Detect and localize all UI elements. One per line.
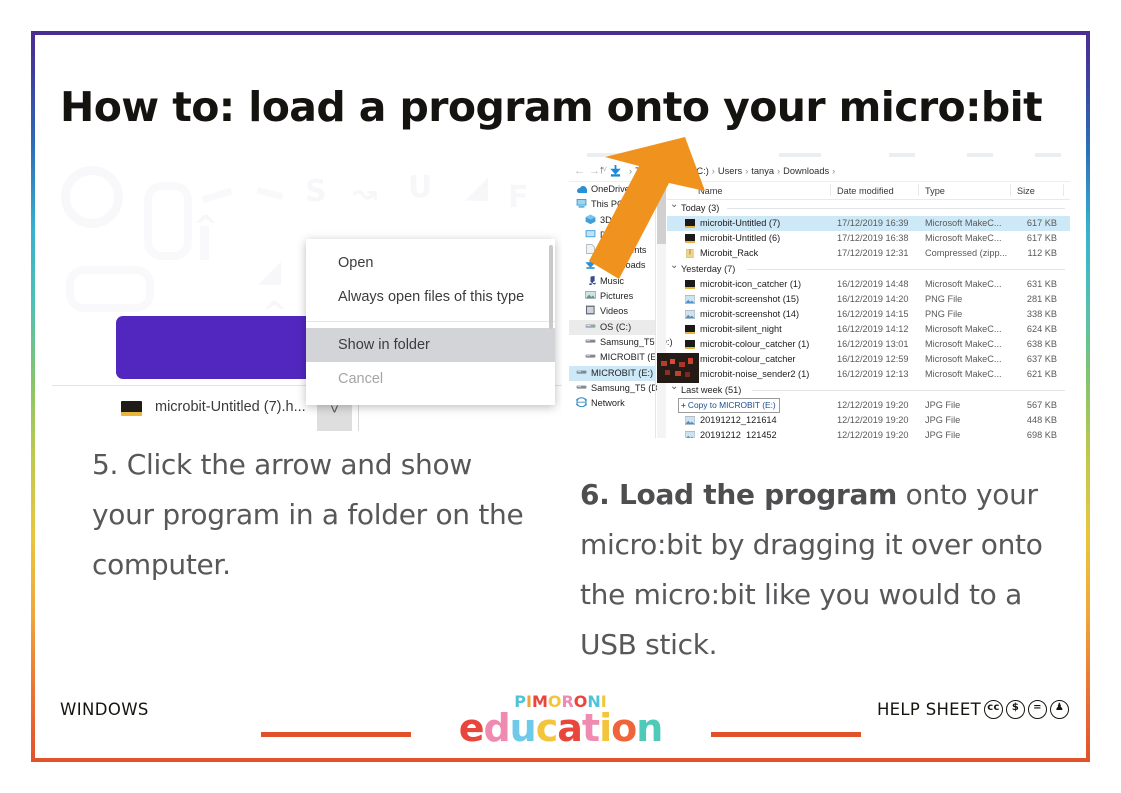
- breadcrumb-separator: ›: [709, 166, 718, 176]
- logo-letter: u: [510, 706, 536, 750]
- file-size: 637 KB: [1017, 352, 1057, 367]
- page-content: How to: load a program onto your micro:b…: [35, 35, 1086, 758]
- column-header-name[interactable]: Name: [698, 186, 723, 196]
- logo-rule-right: [711, 732, 861, 737]
- network-icon: [576, 397, 587, 407]
- nav-scrollbar-thumb[interactable]: [657, 184, 666, 244]
- file-date: 16/12/2019 13:01: [837, 337, 909, 352]
- table-row[interactable]: 20191212_12161412/12/2019 19:20JPG File4…: [667, 413, 1070, 428]
- menu-item-always-open[interactable]: Always open files of this type: [306, 280, 555, 314]
- breadcrumb-part[interactable]: tanya: [751, 166, 774, 176]
- column-headers: Name Date modified Type Size: [667, 182, 1070, 200]
- sidebar-item-microbit-e[interactable]: MICROBIT (E:): [569, 366, 655, 381]
- file-explorer-screenshot: ← → ˅ ↑ ›This PC›OS (C:)›Users›tanya›Dow…: [569, 148, 1070, 438]
- sidebar-item-label: Pictures: [600, 291, 633, 301]
- sidebar-item-this-pc[interactable]: This PC: [569, 197, 655, 212]
- thumb-pixel: [665, 370, 670, 375]
- shelf-file-name[interactable]: microbit-Untitled (7).h...: [155, 399, 306, 415]
- file-name: 20191212_121614: [700, 413, 777, 428]
- file-type: Microsoft MakeC...: [925, 277, 1002, 292]
- sidebar-item-samsung-t5-d[interactable]: Samsung_T5 (D:): [569, 335, 655, 350]
- music-icon: [585, 275, 596, 285]
- file-type: Compressed (zipp...: [925, 246, 1007, 261]
- file-type: JPG File: [925, 413, 960, 428]
- breadcrumb-separator: ›: [668, 166, 677, 176]
- videos-icon: [585, 305, 596, 315]
- sidebar-item-label: MICROBIT (E:): [600, 352, 662, 362]
- table-row[interactable]: microbit-Untitled (6)17/12/2019 16:38Mic…: [667, 231, 1070, 246]
- sidebar-item-label: Downloads: [600, 260, 645, 270]
- breadcrumb-part[interactable]: This PC: [635, 166, 668, 176]
- page-border-frame: How to: load a program onto your micro:b…: [31, 31, 1090, 762]
- sidebar-item-label: MICROBIT (E:): [591, 368, 653, 378]
- downloads-icon: [585, 259, 596, 269]
- file-date: 16/12/2019 14:15: [837, 307, 909, 322]
- cc-nc-icon: $: [1006, 700, 1025, 719]
- sidebar-item-desktop[interactable]: Desktop: [569, 228, 655, 243]
- cc-nd-icon: =: [1028, 700, 1047, 719]
- table-row[interactable]: microbit-silent_night16/12/2019 14:12Mic…: [667, 322, 1070, 337]
- sidebar-item-downloads[interactable]: Downloads: [569, 258, 655, 273]
- logo-letter: e: [459, 706, 484, 750]
- step-6-text: 6. Load the program onto your micro:bit …: [580, 470, 1050, 670]
- file-name: microbit-noise_sender2 (1): [700, 367, 809, 382]
- decorative-shape: [66, 266, 154, 312]
- file-group-rule: [752, 390, 1065, 391]
- plus-icon: +: [681, 400, 686, 410]
- documents-icon: [585, 244, 596, 254]
- footer: WINDOWS PIMORONI education HELP SHEET cc…: [35, 694, 1086, 752]
- file-type: JPG File: [925, 398, 960, 413]
- downloads-folder-icon: [610, 165, 621, 177]
- breadcrumb-separator: ›: [774, 166, 783, 176]
- table-row[interactable]: microbit-icon_catcher (1)16/12/2019 14:4…: [667, 277, 1070, 292]
- thumb-pixel: [688, 358, 693, 364]
- usb-drive-icon: [576, 382, 587, 392]
- this-pc-icon: [576, 198, 587, 208]
- file-name: microbit-colour_catcher: [700, 352, 795, 367]
- decorative-shape: ◢: [465, 170, 488, 205]
- step-6-bold: 6. Load the program: [580, 478, 897, 511]
- sidebar-item-label: OneDrive: [591, 184, 630, 194]
- toolbar-ghost: [1035, 153, 1061, 157]
- decorative-shape: ◢: [258, 254, 281, 289]
- file-date: 16/12/2019 12:59: [837, 352, 909, 367]
- toolbar-ghost: [587, 153, 631, 157]
- scroll-up-icon[interactable]: ▲: [657, 183, 666, 192]
- breadcrumb-separator: ›: [742, 166, 751, 176]
- hex-file-icon: [685, 325, 695, 334]
- sidebar-item-label: OS (C:): [600, 322, 631, 332]
- breadcrumb-part[interactable]: Users: [718, 166, 742, 176]
- decorative-shape: U: [408, 170, 432, 205]
- usb-drive-icon: [585, 336, 596, 346]
- file-name: microbit-screenshot (14): [700, 307, 799, 322]
- sidebar-item-label: Documents: [600, 245, 646, 255]
- file-name: microbit-silent_night: [700, 322, 782, 337]
- sidebar-item-videos[interactable]: Videos: [569, 304, 655, 319]
- table-row[interactable]: microbit-screenshot (14)16/12/2019 14:15…: [667, 307, 1070, 322]
- decorative-shape: S: [305, 174, 327, 209]
- breadcrumb-part[interactable]: OS (C:): [677, 166, 709, 176]
- sidebar-item-label: Music: [600, 276, 624, 286]
- toolbar-ghost: [889, 153, 915, 157]
- file-type: PNG File: [925, 307, 962, 322]
- column-divider[interactable]: [1010, 184, 1011, 196]
- logo-letter: i: [599, 706, 611, 750]
- table-row[interactable]: microbit-Untitled (7)17/12/2019 16:39Mic…: [667, 216, 1070, 231]
- file-date: 12/12/2019 19:20: [837, 413, 909, 428]
- step-5-text: 5. Click the arrow and show your program…: [92, 440, 532, 590]
- thumb-pixel: [661, 361, 667, 366]
- file-date: 12/12/2019 19:20: [837, 398, 909, 413]
- file-size: 281 KB: [1017, 292, 1057, 307]
- file-date: 12/12/2019 19:20: [837, 428, 909, 438]
- file-name: microbit-screenshot (15): [700, 292, 799, 307]
- help-sheet-label: HELP SHEET: [877, 700, 981, 719]
- file-size: 698 KB: [1017, 428, 1057, 438]
- sidebar-item-label: Desktop: [600, 230, 634, 240]
- pane-splitter[interactable]: [655, 182, 656, 438]
- column-header-type[interactable]: Type: [925, 186, 945, 196]
- thumb-pixel: [685, 372, 690, 377]
- png-file-icon: [685, 295, 695, 304]
- table-row[interactable]: Microbit_Rack17/12/2019 12:31Compressed …: [667, 246, 1070, 261]
- help-sheet-label-group: HELP SHEET cc $ = ♟: [877, 700, 1069, 719]
- logo-letter: t: [582, 706, 599, 750]
- microbit-hex-file-icon: [121, 401, 142, 416]
- file-size: 617 KB: [1017, 216, 1057, 231]
- file-size: 624 KB: [1017, 322, 1057, 337]
- file-name: microbit-icon_catcher (1): [700, 277, 801, 292]
- file-group-rule: [727, 208, 1065, 209]
- logo-letter: n: [636, 706, 662, 750]
- cc-by-icon: ♟: [1050, 700, 1069, 719]
- zip-file-icon: [685, 249, 695, 258]
- thumb-pixel: [670, 359, 675, 364]
- usb-drive-icon: [576, 367, 587, 377]
- file-date: 17/12/2019 16:38: [837, 231, 909, 246]
- sidebar-item-label: Videos: [600, 306, 628, 316]
- menu-item-cancel[interactable]: Cancel: [306, 362, 555, 396]
- file-name: microbit-Untitled (6): [700, 231, 780, 246]
- file-group-rule: [747, 269, 1065, 270]
- sidebar-item-pictures[interactable]: Pictures: [569, 289, 655, 304]
- column-header-size[interactable]: Size: [1017, 186, 1035, 196]
- sidebar-item-label: Network: [591, 398, 625, 408]
- file-group-label: Last week (51): [681, 385, 741, 395]
- sidebar-item-network[interactable]: Network: [569, 396, 655, 411]
- decorative-shape: [257, 187, 284, 200]
- sidebar-item-microbit-e[interactable]: MICROBIT (E:): [569, 350, 655, 365]
- logo-letter: c: [536, 706, 558, 750]
- pimoroni-education-logo: PIMORONI education: [411, 694, 711, 747]
- file-group-header[interactable]: Today (3): [667, 200, 1070, 216]
- drag-tooltip-label: Copy to MICROBIT (E:): [688, 400, 776, 410]
- back-icon[interactable]: ←: [574, 166, 585, 177]
- file-date: 16/12/2019 14:12: [837, 322, 909, 337]
- file-group-label: Yesterday (7): [681, 264, 735, 274]
- hex-file-icon: [685, 219, 695, 228]
- file-name: 20191212_121452: [700, 428, 777, 438]
- address-bar[interactable]: ← → ˅ ↑ ›This PC›OS (C:)›Users›tanya›Dow…: [569, 162, 1070, 182]
- decorative-shape: [144, 182, 192, 260]
- decorative-shape: ↝: [352, 176, 377, 211]
- sidebar-item-3d-objects[interactable]: 3D Objects: [569, 213, 655, 228]
- browser-screenshot: S ↝ U ◢ F ^ ◢ ▼ ^ ▮ ● microbit-Untitled …: [52, 148, 562, 431]
- file-size: 638 KB: [1017, 337, 1057, 352]
- file-type: JPG File: [925, 428, 960, 438]
- explorer-toolbar-faded: [569, 148, 1070, 162]
- decorative-shape: F: [508, 180, 529, 215]
- navigation-pane: OneDriveThis PC3D ObjectsDesktopDocument…: [569, 182, 655, 438]
- file-type: Microsoft MakeC...: [925, 322, 1002, 337]
- pictures-icon: [585, 290, 596, 300]
- breadcrumb[interactable]: ›This PC›OS (C:)›Users›tanya›Downloads›: [626, 166, 838, 176]
- logo-letter: a: [557, 706, 582, 750]
- jpg-file-icon: [685, 416, 695, 425]
- breadcrumb-part[interactable]: Downloads: [783, 166, 829, 176]
- file-name: microbit-Untitled (7): [700, 216, 780, 231]
- usb-drive-icon: [585, 351, 596, 361]
- logo-rule-left: [261, 732, 411, 737]
- logo-letter: d: [483, 706, 509, 750]
- decorative-shape: ^: [193, 210, 218, 245]
- file-size: 112 KB: [1017, 246, 1057, 261]
- drag-thumbnail: [657, 353, 699, 383]
- hex-file-icon: [685, 280, 695, 289]
- file-type: Microsoft MakeC...: [925, 352, 1002, 367]
- file-group-header[interactable]: Last week (51): [667, 382, 1070, 398]
- file-type: Microsoft MakeC...: [925, 337, 1002, 352]
- file-name: Microbit_Rack: [700, 246, 758, 261]
- file-group-label: Today (3): [681, 203, 719, 213]
- png-file-icon: [685, 310, 695, 319]
- drag-drop-tooltip: +Copy to MICROBIT (E:): [678, 398, 780, 413]
- file-type: Microsoft MakeC...: [925, 231, 1002, 246]
- sidebar-item-label: This PC: [591, 199, 624, 209]
- file-name: microbit-colour_catcher (1): [700, 337, 809, 352]
- file-date: 16/12/2019 14:48: [837, 277, 909, 292]
- sidebar-item-onedrive[interactable]: OneDrive: [569, 182, 655, 197]
- decorative-shape: [202, 188, 233, 204]
- logo-letter: o: [611, 706, 636, 750]
- table-row[interactable]: 20191212_12145212/12/2019 19:20JPG File6…: [667, 428, 1070, 438]
- breadcrumb-separator: ›: [829, 166, 838, 176]
- sidebar-item-samsung-t5-d[interactable]: Samsung_T5 (D:): [569, 381, 655, 396]
- file-type: Microsoft MakeC...: [925, 367, 1002, 382]
- file-size: 338 KB: [1017, 307, 1057, 322]
- file-group-header[interactable]: Yesterday (7): [667, 261, 1070, 277]
- sidebar-item-os-c[interactable]: OS (C:): [569, 320, 655, 335]
- column-header-date[interactable]: Date modified: [837, 186, 894, 196]
- hex-file-icon: [685, 234, 695, 243]
- desktop-icon: [585, 229, 596, 239]
- file-size: 448 KB: [1017, 413, 1057, 428]
- file-type: Microsoft MakeC...: [925, 216, 1002, 231]
- table-row[interactable]: microbit-colour_catcher (1)16/12/2019 13…: [667, 337, 1070, 352]
- thumb-pixel: [679, 362, 685, 367]
- file-date: 16/12/2019 12:13: [837, 367, 909, 382]
- sidebar-item-music[interactable]: Music: [569, 274, 655, 289]
- menu-separator: [306, 321, 555, 322]
- logo-education-text: education: [411, 709, 711, 747]
- context-menu: Open Always open files of this type Show…: [306, 239, 555, 405]
- thumb-pixel: [675, 371, 681, 376]
- file-type: PNG File: [925, 292, 962, 307]
- column-divider[interactable]: [918, 184, 919, 196]
- menu-scrollbar[interactable]: [549, 245, 553, 329]
- menu-item-show-in-folder[interactable]: Show in folder: [306, 328, 555, 362]
- sidebar-item-label: 3D Objects: [600, 215, 645, 225]
- file-date: 17/12/2019 12:31: [837, 246, 909, 261]
- platform-label: WINDOWS: [60, 700, 149, 719]
- column-divider[interactable]: [1063, 184, 1064, 196]
- toolbar-ghost: [779, 153, 821, 157]
- drive-icon: [585, 321, 596, 331]
- file-date: 16/12/2019 14:20: [837, 292, 909, 307]
- column-divider[interactable]: [830, 184, 831, 196]
- file-size: 631 KB: [1017, 277, 1057, 292]
- sidebar-item-documents[interactable]: Documents: [569, 243, 655, 258]
- cc-icon: cc: [984, 700, 1003, 719]
- menu-item-open[interactable]: Open: [306, 246, 555, 280]
- up-icon[interactable]: ↑: [599, 165, 605, 176]
- file-size: 617 KB: [1017, 231, 1057, 246]
- file-date: 17/12/2019 16:39: [837, 216, 909, 231]
- jpg-file-icon: [685, 431, 695, 438]
- decorative-shape: [61, 166, 123, 228]
- table-row[interactable]: microbit-noise_sender2 (1)16/12/2019 12:…: [667, 367, 1070, 382]
- file-size: 567 KB: [1017, 398, 1057, 413]
- sidebar-item-label: Samsung_T5 (D:): [591, 383, 664, 393]
- file-size: 621 KB: [1017, 367, 1057, 382]
- page-title: How to: load a program onto your micro:b…: [60, 83, 1042, 131]
- onedrive-icon: [576, 183, 587, 193]
- toolbar-ghost: [967, 153, 993, 157]
- 3d-objects-icon: [585, 214, 596, 224]
- hex-file-icon: [685, 340, 695, 349]
- table-row[interactable]: microbit-screenshot (15)16/12/2019 14:20…: [667, 292, 1070, 307]
- table-row[interactable]: microbit-colour_catcher16/12/2019 12:59M…: [667, 352, 1070, 367]
